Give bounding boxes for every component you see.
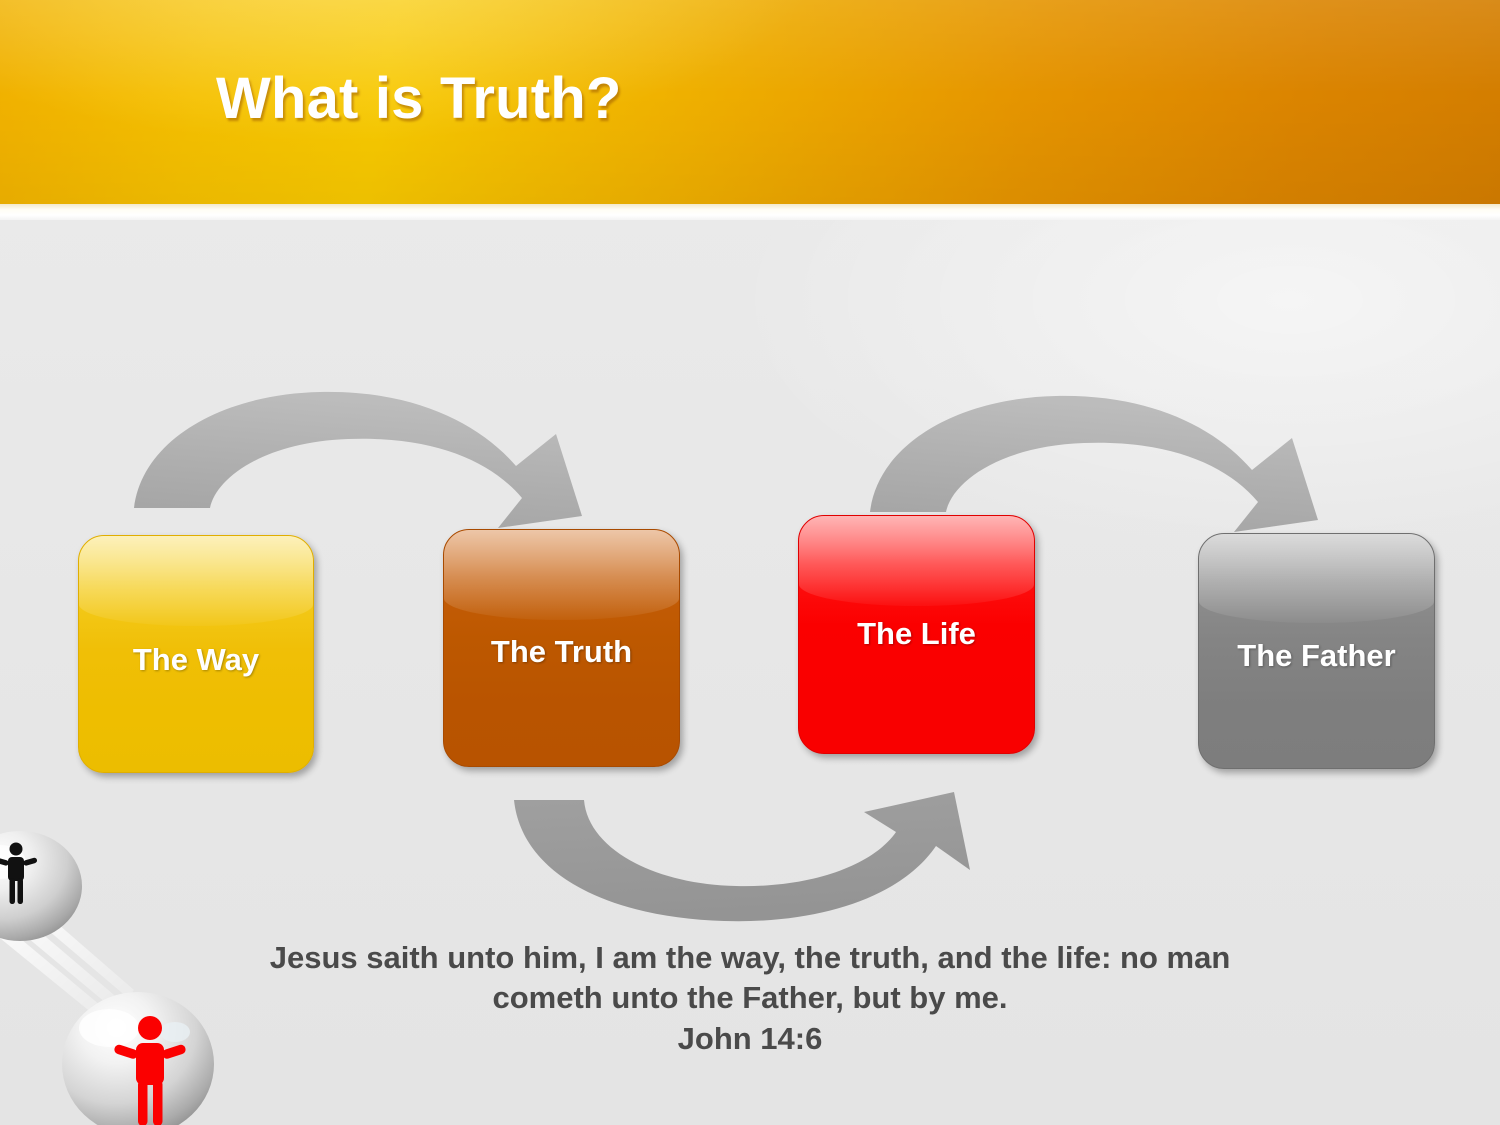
process-box-label: The Way <box>79 644 313 675</box>
box-gloss-highlight <box>79 536 313 626</box>
process-box-life[interactable]: The Life <box>798 515 1035 754</box>
box-gloss-highlight <box>1199 534 1434 623</box>
slide-canvas: What is Truth? <box>0 0 1500 1125</box>
process-box-truth[interactable]: The Truth <box>443 529 680 767</box>
scripture-caption: Jesus saith unto him, I am the way, the … <box>250 938 1250 1059</box>
scripture-verse: Jesus saith unto him, I am the way, the … <box>270 940 1231 1015</box>
process-box-label: The Father <box>1199 640 1434 671</box>
box-gloss-highlight <box>444 530 679 620</box>
person-figure-red-icon <box>113 1016 187 1125</box>
scripture-reference: John 14:6 <box>250 1019 1250 1059</box>
process-box-way[interactable]: The Way <box>78 535 314 773</box>
curved-arrow-right-icon <box>112 388 622 538</box>
person-figure-black-icon <box>0 843 38 905</box>
two-spheres-decoration <box>0 828 250 1125</box>
banner-underline <box>0 204 1500 220</box>
light-beams <box>0 898 134 1018</box>
sphere-lower <box>62 992 214 1125</box>
process-box-label: The Truth <box>444 636 679 667</box>
page-title: What is Truth? <box>216 70 622 128</box>
curved-arrow-up-right-icon <box>492 782 1002 922</box>
sphere-upper <box>0 831 82 941</box>
box-gloss-highlight <box>799 516 1034 606</box>
process-box-father[interactable]: The Father <box>1198 533 1435 769</box>
process-box-label: The Life <box>799 618 1034 649</box>
